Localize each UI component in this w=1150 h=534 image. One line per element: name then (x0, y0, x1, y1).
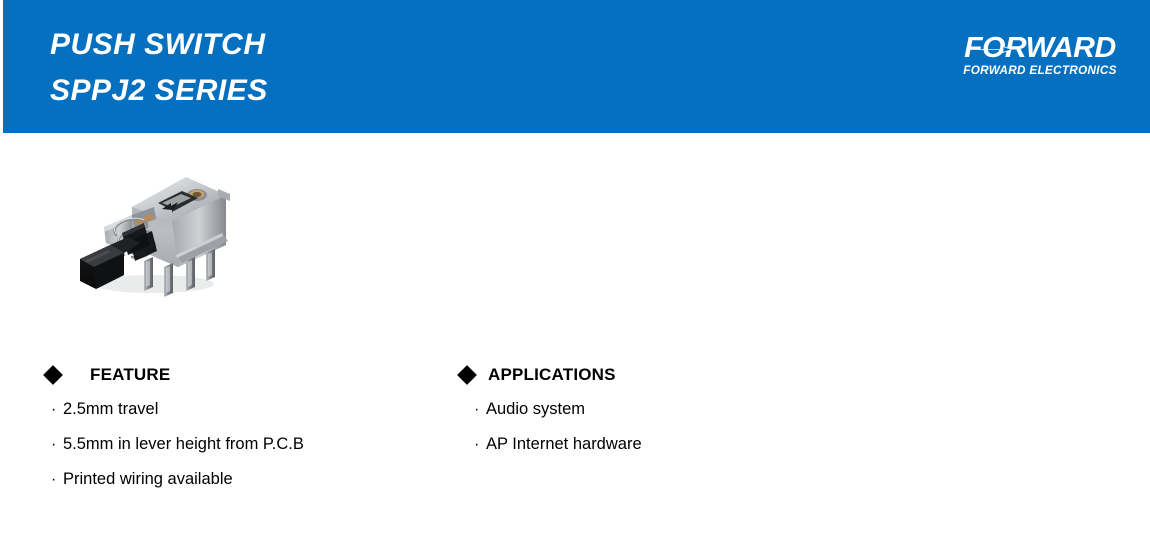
feature-item-text: 5.5mm in lever height from P.C.B (63, 435, 304, 454)
applications-list: · Audio system · AP Internet hardware (460, 400, 880, 470)
company-logo: FORWARD FORWARD ELECTRONICS (960, 33, 1120, 77)
diamond-bullet-icon (457, 365, 477, 385)
logo-wordmark-wrap: FORWARD (960, 33, 1120, 63)
application-item-text: Audio system (486, 400, 585, 419)
bullet-dot-icon: · (474, 402, 486, 418)
feature-section-heading: FEATURE (46, 362, 446, 388)
diamond-bullet-icon (43, 365, 63, 385)
page-title: PUSH SWITCH SPPJ2 SERIES (50, 22, 650, 114)
applications-section: APPLICATIONS · Audio system · AP Interne… (460, 362, 880, 470)
page-title-line-1: PUSH SWITCH (50, 22, 650, 68)
feature-item-text: 2.5mm travel (63, 400, 158, 419)
bullet-dot-icon: · (51, 472, 63, 488)
bullet-dot-icon: · (51, 402, 63, 418)
bullet-dot-icon: · (474, 437, 486, 453)
feature-list: · 2.5mm travel · 5.5mm in lever height f… (46, 400, 446, 505)
list-item: · 5.5mm in lever height from P.C.B (46, 435, 446, 470)
header-banner: PUSH SWITCH SPPJ2 SERIES FORWARD FORWARD… (3, 0, 1150, 133)
logo-wordmark-text: FORWARD (964, 33, 1116, 63)
page-title-line-2: SPPJ2 SERIES (50, 68, 650, 114)
list-item: · Audio system (460, 400, 880, 435)
application-item-text: AP Internet hardware (486, 435, 642, 454)
feature-section: FEATURE · 2.5mm travel · 5.5mm in lever … (46, 362, 446, 505)
feature-section-title: FEATURE (90, 365, 170, 385)
list-item: · AP Internet hardware (460, 435, 880, 470)
applications-section-title: APPLICATIONS (488, 365, 616, 385)
product-image-push-switch (58, 163, 238, 308)
bullet-dot-icon: · (51, 437, 63, 453)
list-item: · Printed wiring available (46, 470, 446, 505)
applications-section-heading: APPLICATIONS (460, 362, 880, 388)
feature-item-text: Printed wiring available (63, 470, 233, 489)
list-item: · 2.5mm travel (46, 400, 446, 435)
logo-subtitle-text: FORWARD ELECTRONICS (958, 65, 1121, 77)
